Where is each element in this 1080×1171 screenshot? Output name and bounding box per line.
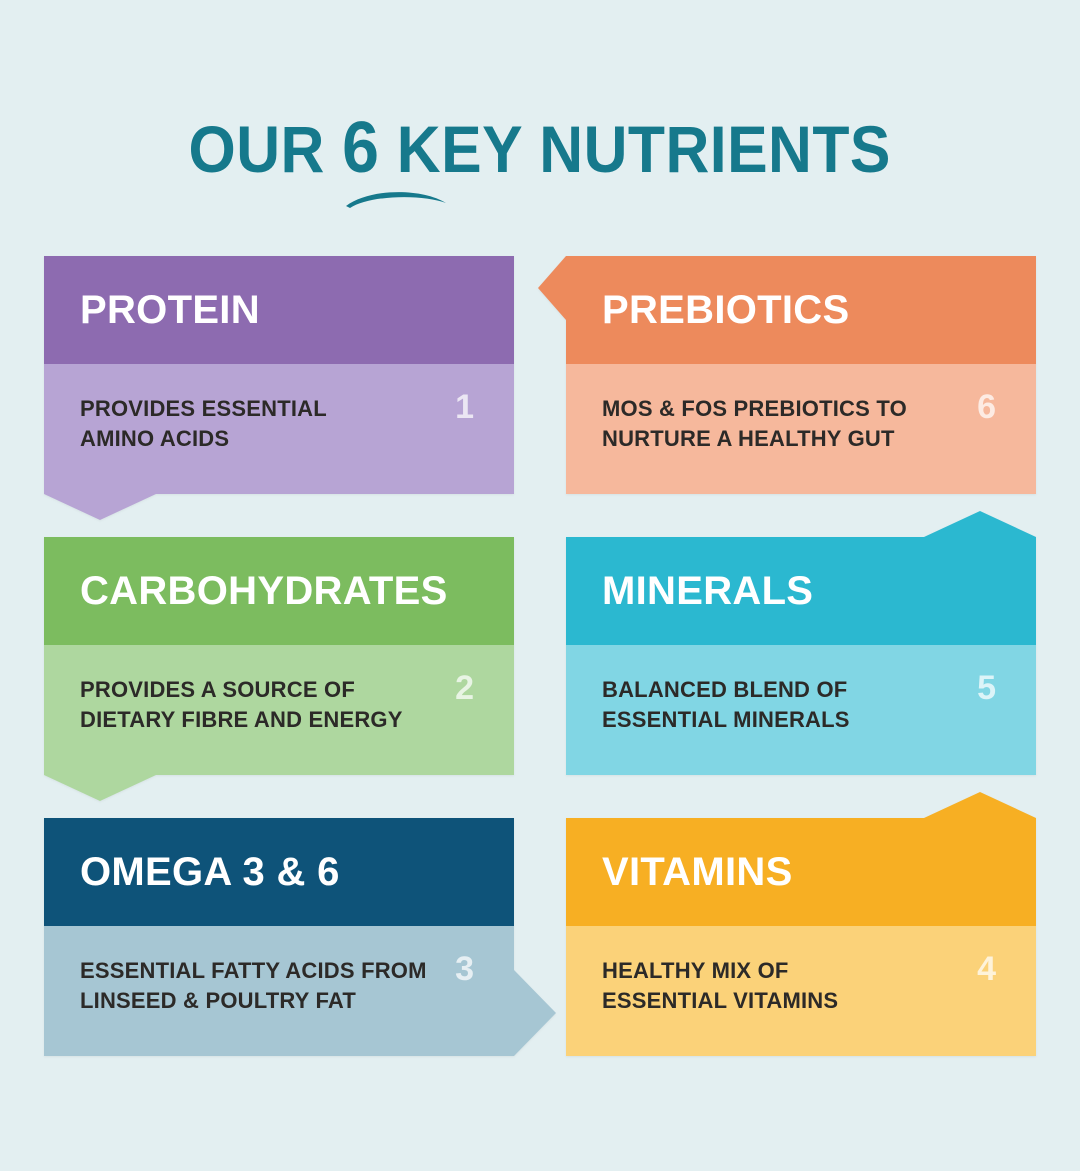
card-vitamins-number: 4 xyxy=(977,952,996,986)
card-omega-number: 3 xyxy=(455,952,474,986)
card-row-2: CARBOHYDRATES PROVIDES A SOURCE OF DIETA… xyxy=(44,537,1036,818)
card-prebiotics-title: PREBIOTICS xyxy=(602,290,849,330)
card-omega-title: OMEGA 3 & 6 xyxy=(80,852,340,892)
card-minerals[interactable]: MINERALS BALANCED BLEND OF ESSENTIAL MIN… xyxy=(566,537,1036,775)
card-prebiotics-body: MOS & FOS PREBIOTICS TO NURTURE A HEALTH… xyxy=(566,364,1036,494)
card-minerals-number: 5 xyxy=(977,671,996,705)
card-vitamins-body: HEALTHY MIX OF ESSENTIAL VITAMINS 4 xyxy=(566,926,1036,1056)
card-row-1: PROTEIN PROVIDES ESSENTIAL AMINO ACIDS 1… xyxy=(44,256,1036,537)
card-prebiotics-arrow-left-icon xyxy=(538,256,566,320)
card-carbohydrates[interactable]: CARBOHYDRATES PROVIDES A SOURCE OF DIETA… xyxy=(44,537,514,775)
card-minerals-body: BALANCED BLEND OF ESSENTIAL MINERALS 5 xyxy=(566,645,1036,775)
page-title: OUR 6 KEY NUTRIENTS xyxy=(189,112,891,184)
card-prebiotics-description: MOS & FOS PREBIOTICS TO NURTURE A HEALTH… xyxy=(602,394,952,455)
card-prebiotics-header: PREBIOTICS xyxy=(566,256,1036,364)
card-protein[interactable]: PROTEIN PROVIDES ESSENTIAL AMINO ACIDS 1 xyxy=(44,256,514,494)
card-minerals-description: BALANCED BLEND OF ESSENTIAL MINERALS xyxy=(602,675,952,736)
card-omega-header: OMEGA 3 & 6 xyxy=(44,818,514,926)
card-protein-title: PROTEIN xyxy=(80,290,260,330)
infographic-page: OUR 6 KEY NUTRIENTS PROTEIN PROVIDES ESS… xyxy=(0,0,1080,1171)
card-minerals-title: MINERALS xyxy=(602,571,813,611)
card-omega-body: ESSENTIAL FATTY ACIDS FROM LINSEED & POU… xyxy=(44,926,514,1056)
card-prebiotics-number: 6 xyxy=(977,390,996,424)
card-omega-description: ESSENTIAL FATTY ACIDS FROM LINSEED & POU… xyxy=(80,956,430,1017)
card-carbohydrates-number: 2 xyxy=(455,671,474,705)
swoosh-underline-icon xyxy=(344,186,448,208)
card-protein-description: PROVIDES ESSENTIAL AMINO ACIDS xyxy=(80,394,430,455)
nutrient-card-grid: PROTEIN PROVIDES ESSENTIAL AMINO ACIDS 1… xyxy=(44,256,1036,1053)
card-protein-number: 1 xyxy=(455,390,474,424)
card-protein-header: PROTEIN xyxy=(44,256,514,364)
card-prebiotics[interactable]: PREBIOTICS MOS & FOS PREBIOTICS TO NURTU… xyxy=(566,256,1036,494)
card-vitamins-title: VITAMINS xyxy=(602,852,793,892)
card-carbohydrates-header: CARBOHYDRATES xyxy=(44,537,514,645)
card-omega-3-and-6[interactable]: OMEGA 3 & 6 ESSENTIAL FATTY ACIDS FROM L… xyxy=(44,818,514,1056)
card-carbohydrates-description: PROVIDES A SOURCE OF DIETARY FIBRE AND E… xyxy=(80,675,430,736)
card-carbohydrates-title: CARBOHYDRATES xyxy=(80,571,448,611)
card-vitamins-header: VITAMINS xyxy=(566,818,1036,926)
card-omega-arrow-right-icon xyxy=(514,970,556,1056)
title-number: 6 xyxy=(342,108,379,188)
title-suffix: KEY NUTRIENTS xyxy=(380,112,891,186)
card-protein-arrow-down-icon xyxy=(44,494,156,520)
title-prefix: OUR xyxy=(189,112,343,186)
card-vitamins-description: HEALTHY MIX OF ESSENTIAL VITAMINS xyxy=(602,956,952,1017)
title-block: OUR 6 KEY NUTRIENTS xyxy=(0,112,1080,184)
card-minerals-header: MINERALS xyxy=(566,537,1036,645)
card-vitamins[interactable]: VITAMINS HEALTHY MIX OF ESSENTIAL VITAMI… xyxy=(566,818,1036,1056)
card-protein-body: PROVIDES ESSENTIAL AMINO ACIDS 1 xyxy=(44,364,514,494)
card-carbohydrates-arrow-down-icon xyxy=(44,775,156,801)
card-row-3: OMEGA 3 & 6 ESSENTIAL FATTY ACIDS FROM L… xyxy=(44,818,1036,1053)
card-carbohydrates-body: PROVIDES A SOURCE OF DIETARY FIBRE AND E… xyxy=(44,645,514,775)
